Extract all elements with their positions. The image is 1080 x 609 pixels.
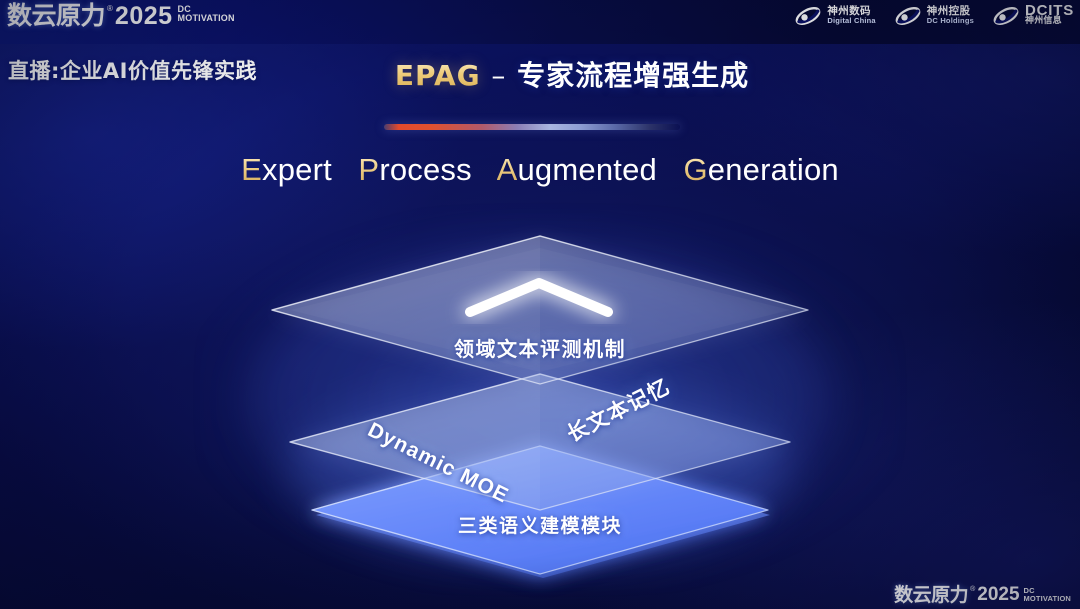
subtitle-word-augmented: Augmented	[497, 152, 657, 187]
title-acronym: EPAG	[395, 59, 481, 92]
partner-name-cn: 神州数码	[827, 6, 875, 16]
layer-label-top: 领域文本评测机制	[0, 333, 1080, 362]
subtitle-space-1	[341, 152, 350, 187]
swoosh-icon	[794, 4, 822, 28]
stack-layer-middle	[290, 374, 790, 514]
title-chinese: 专家流程增强生成	[517, 59, 749, 92]
watermark-dc-motivation: DC MOTIVATION	[1024, 587, 1071, 602]
partner-logo-text: 神州控股 DC Holdings	[927, 6, 974, 26]
swoosh-icon	[992, 4, 1020, 28]
title-divider	[384, 124, 680, 130]
layer-label-bottom: 三类语义建模模块	[0, 511, 1080, 538]
event-logo-motivation: MOTIVATION	[178, 14, 235, 23]
subtitle-word-process: Process	[358, 152, 471, 187]
watermark-motivation: MOTIVATION	[1024, 595, 1071, 603]
subtitle: Expert Process Augmented Generation	[0, 152, 1080, 188]
layer-label-long-text-memory: 长文本记忆	[561, 371, 675, 449]
partner-logo-digital-china: 神州数码 Digital China	[794, 4, 875, 28]
event-logo-registered: ®	[107, 3, 113, 14]
subtitle-rest-expert: xpert	[262, 152, 332, 187]
subtitle-rest-process: rocess	[379, 152, 472, 187]
event-logo-year: 2025	[115, 3, 173, 29]
event-logo: 数云原力 ® 2025 DC MOTIVATION	[7, 3, 235, 29]
subtitle-rest-augmented: ugmented	[517, 152, 656, 187]
stack-layer-top	[272, 236, 808, 387]
layer-label-dynamic-moe: Dynamic MOE	[364, 418, 513, 508]
event-logo-cn: 数云原力	[7, 3, 105, 29]
page-title: EPAG – 专家流程增强生成	[0, 54, 1080, 94]
subtitle-space-3	[666, 152, 675, 187]
partner-logo-text: 神州数码 Digital China	[827, 6, 875, 26]
subtitle-cap-e: E	[241, 152, 262, 187]
partner-name-cn: 神州控股	[927, 6, 974, 16]
partner-logo-dcits: DCITS 神州信息	[992, 4, 1074, 28]
subtitle-word-generation: Generation	[683, 152, 838, 187]
watermark-cn: 数云原力	[894, 585, 968, 605]
swoosh-icon	[894, 4, 922, 28]
subtitle-cap-p: P	[358, 152, 379, 187]
watermark-year: 2025	[977, 585, 1019, 605]
slide-root: 数云原力 ® 2025 DC MOTIVATION 直播:企业AI价值先锋实践 …	[0, 0, 1080, 609]
background-center-glow	[200, 210, 900, 590]
event-logo-dc-motivation: DC MOTIVATION	[178, 5, 235, 23]
partner-logo-group: 神州数码 Digital China 神州控股 DC Holdings	[794, 4, 1074, 28]
subtitle-word-expert: Expert	[241, 152, 332, 187]
partner-name-en: 神州信息	[1025, 16, 1074, 26]
stack-layer-bottom	[312, 446, 770, 578]
chevron-up-icon	[470, 283, 608, 312]
partner-logo-text: DCITS 神州信息	[1025, 6, 1074, 26]
partner-name-cn: DCITS	[1025, 6, 1074, 16]
subtitle-cap-a: A	[497, 152, 518, 187]
watermark-registered: ®	[970, 585, 975, 594]
title-dash: –	[491, 59, 506, 92]
footer-watermark: 数云原力 ® 2025 DC MOTIVATION	[894, 585, 1071, 605]
subtitle-cap-g: G	[683, 152, 707, 187]
subtitle-space-2	[481, 152, 490, 187]
partner-logo-dc-holdings: 神州控股 DC Holdings	[894, 4, 974, 28]
partner-name-en: DC Holdings	[927, 16, 974, 26]
partner-name-en: Digital China	[827, 16, 875, 26]
subtitle-rest-generation: eneration	[708, 152, 839, 187]
